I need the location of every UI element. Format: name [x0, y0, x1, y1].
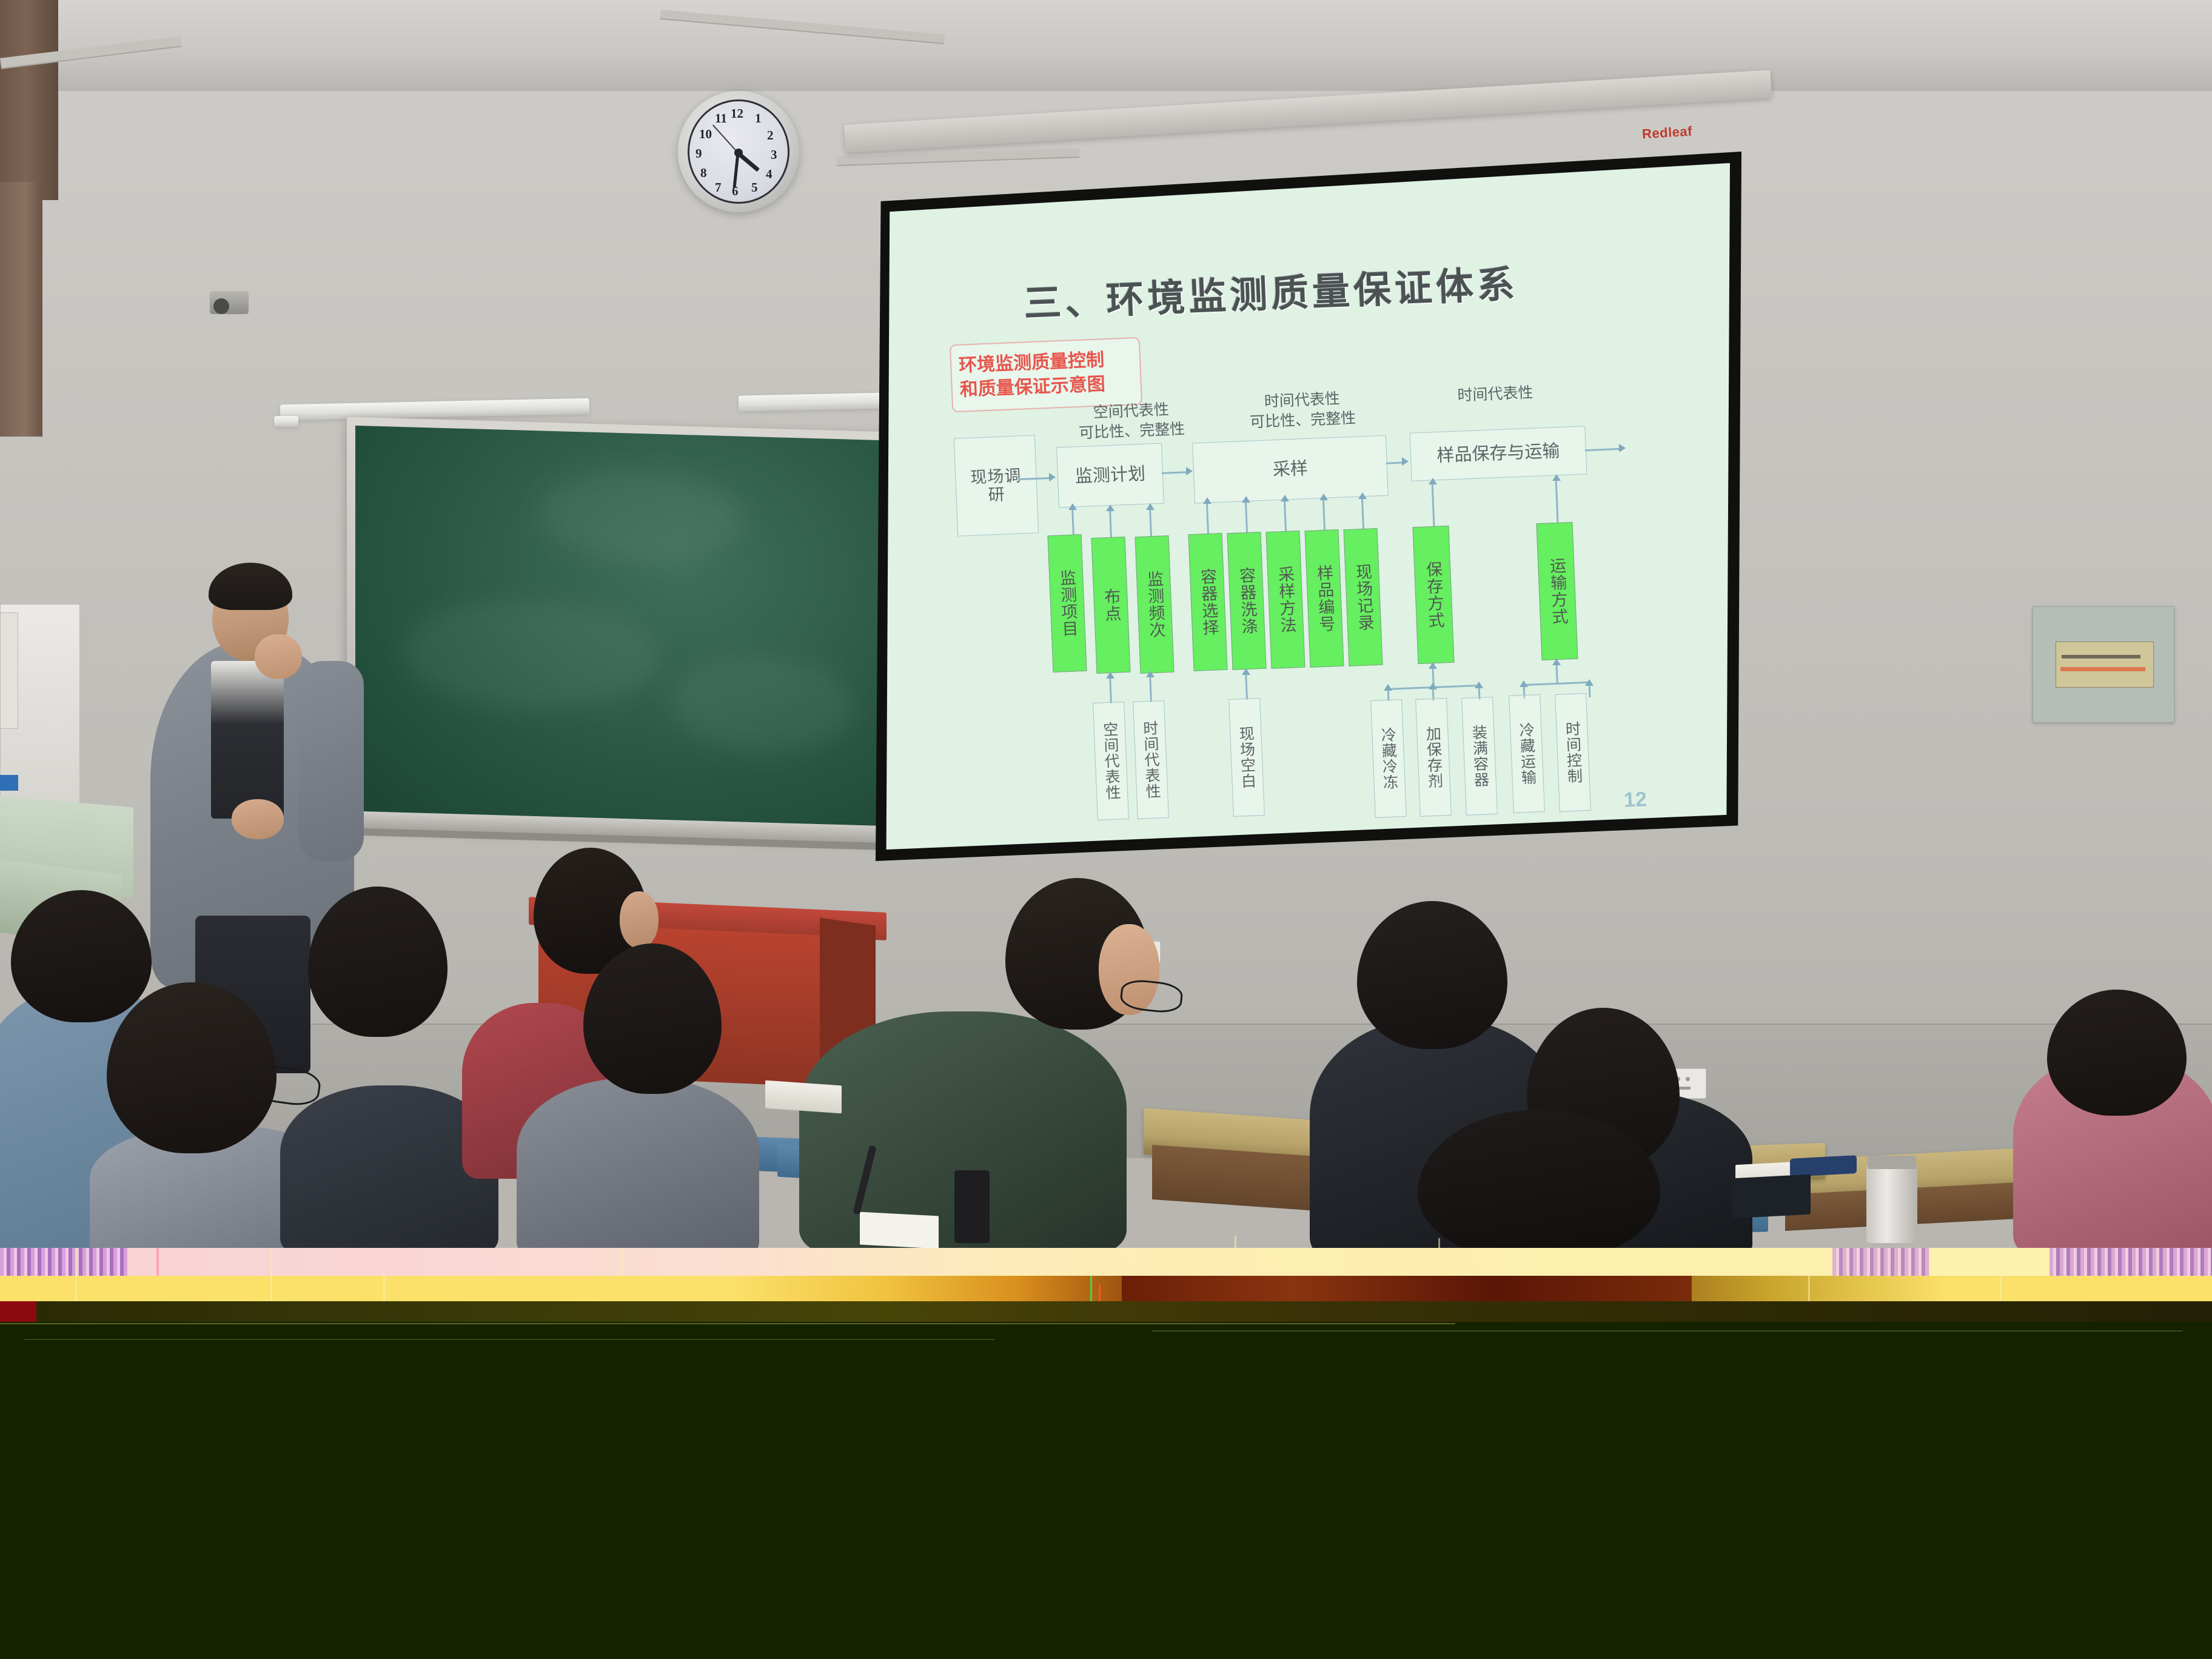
glitch-band-yellow [0, 1276, 2212, 1301]
thermos-flask[interactable] [1866, 1164, 1917, 1243]
riser-7 [1322, 496, 1326, 534]
clock-numeral: 3 [771, 147, 777, 163]
glitch-tick [905, 1248, 907, 1276]
detail-box-spatial-representativeness: 空间代表性 [1093, 702, 1129, 820]
clock-numeral: 5 [751, 180, 758, 195]
glitch-tick [1099, 1284, 1101, 1301]
glitch-tick [2000, 1248, 2002, 1301]
stage-box-storage-transport: 样品保存与运输 [1410, 426, 1587, 481]
sensor-artifact [1235, 1236, 1236, 1248]
wall-plaque-accent-line [2060, 667, 2145, 671]
corrupted-image-region [0, 1248, 2212, 1659]
glitch-dark-red-run [1122, 1276, 1692, 1301]
arrow-plan-to-sampling [1186, 467, 1193, 475]
arrow-riser-7 [1319, 494, 1328, 500]
window-curtain-lower [0, 182, 42, 437]
chalk-smudge [404, 597, 659, 713]
clock-numeral: 8 [700, 166, 707, 181]
stage-box-monitoring-plan: 监测计划 [1056, 443, 1164, 508]
clock-numeral: 4 [766, 167, 773, 182]
glitch-band-olive [0, 1301, 2212, 1322]
riser-1 [1071, 506, 1074, 537]
glitch-dark-red-run-2 [0, 1301, 36, 1322]
lower-riser-1 [1109, 674, 1112, 703]
detail-box-refrigerate-freeze: 冷藏冷冻 [1370, 699, 1407, 818]
clock-numeral: 10 [699, 127, 712, 142]
clock-numeral: 12 [731, 106, 743, 121]
detail-box-field-blank: 现场空白 [1228, 698, 1265, 817]
ceiling-camera-lens [213, 298, 229, 314]
riser-6 [1284, 497, 1287, 535]
glitch-scanline [24, 1339, 994, 1340]
arrow-lower-riser-2 [1146, 671, 1155, 677]
lecturer-hand-raised [255, 634, 302, 679]
detail-box-add-preservative: 加保存剂 [1415, 698, 1452, 817]
connector-storage-out [1585, 448, 1621, 451]
detail-box-temporal-representativeness: 时间代表性 [1133, 700, 1169, 819]
riser-10 [1555, 477, 1558, 524]
glitch-tick [1443, 1248, 1445, 1276]
presentation-slide: 三、环境监测质量保证体系 环境监测质量控制 和质量保证示意图 空间代表性 可比性… [883, 159, 1734, 854]
glitch-tick [75, 1248, 77, 1301]
lecturer-right-arm [298, 661, 364, 861]
clock-numeral: 9 [695, 146, 702, 161]
arrow-riser-2 [1106, 504, 1114, 511]
arrow-storage-out [1619, 444, 1626, 452]
riser-4 [1206, 500, 1209, 537]
clock-face: 12 1 2 3 4 5 6 7 8 9 10 11 [688, 99, 789, 204]
arrow-survey-to-plan [1049, 473, 1056, 481]
sensor-artifact [1438, 1238, 1440, 1248]
student-body [517, 1078, 759, 1248]
arrow-riser-3 [1146, 503, 1155, 510]
arrow-riser-6 [1281, 495, 1289, 501]
ceiling [0, 0, 2212, 91]
student-face [620, 891, 659, 948]
arrow-riser-1 [1068, 503, 1077, 510]
arrow-riser-5 [1242, 496, 1250, 503]
green-box-field-record: 现场记录 [1343, 528, 1382, 666]
green-box-preservation-method: 保存方式 [1412, 526, 1454, 664]
connector-plan-to-sampling [1162, 471, 1187, 474]
arrow-riser-9 [1429, 478, 1437, 484]
textbook-open[interactable] [765, 1081, 842, 1114]
green-box-site-layout: 布点 [1091, 537, 1131, 674]
fluorescent-lamp-right [739, 392, 890, 411]
arrow-fanout-right-2 [1585, 679, 1594, 686]
detail-box-fill-container: 装满容器 [1461, 697, 1498, 816]
glitch-band-magenta [1832, 1248, 1929, 1276]
green-box-container-washing: 容器洗涤 [1227, 532, 1266, 670]
lecturer-shirt [211, 661, 284, 819]
slide-callout: 环境监测质量控制 和质量保证示意图 [950, 337, 1142, 413]
cabinet-label-sticker [0, 775, 18, 791]
wall-plaque-text-line [2062, 655, 2140, 659]
arrow-fanout-left-1 [1384, 684, 1392, 691]
green-box-transport-method: 运输方式 [1536, 522, 1578, 660]
riser-9 [1431, 480, 1435, 528]
arrow-riser-4 [1203, 497, 1212, 504]
arrow-sampling-to-storage [1402, 457, 1409, 466]
tablet-device[interactable] [1732, 1175, 1811, 1219]
glitch-fill-dark [0, 1322, 2212, 1659]
caption-line-1: 时间代表性 [1428, 382, 1562, 407]
riser-3 [1149, 506, 1152, 538]
riser-5 [1245, 498, 1248, 536]
glitch-scanline [1152, 1330, 2183, 1332]
thermos-cap [1868, 1156, 1916, 1169]
glitch-tick [1808, 1276, 1810, 1301]
arrow-lower-riser-3 [1242, 668, 1250, 675]
clock-numeral: 11 [715, 111, 727, 126]
screen-brand-label: Redleaf [1641, 124, 1692, 142]
glitch-tick [1090, 1276, 1092, 1301]
equipment-cabinet-door[interactable] [0, 612, 18, 729]
clock-numeral: 7 [715, 180, 722, 195]
arrow-lower-riser-1 [1106, 672, 1114, 679]
screenshot-root: 12 1 2 3 4 5 6 7 8 9 10 11 [0, 0, 2212, 1659]
wall-clock: 12 1 2 3 4 5 6 7 8 9 10 11 [678, 91, 799, 212]
green-box-monitoring-items: 监测项目 [1047, 534, 1087, 672]
clock-minute-hand [732, 153, 739, 188]
flow-caption-2: 时间代表性 可比性、完整性 [1235, 388, 1370, 433]
green-box-monitoring-frequency: 监测频次 [1134, 535, 1174, 674]
arrow-fanout-left-3 [1475, 682, 1483, 688]
clock-center-hub [734, 149, 743, 157]
chalk-smudge [537, 467, 743, 563]
classroom-photo: 12 1 2 3 4 5 6 7 8 9 10 11 [0, 0, 2212, 1248]
arrow-fanout-left-2 [1429, 683, 1437, 689]
glitch-scanline [0, 1323, 1455, 1324]
arrow-fanout-left [1429, 662, 1437, 669]
lower-riser-3 [1245, 671, 1248, 700]
lamp-bracket-left [274, 416, 298, 427]
riser-2 [1109, 507, 1112, 538]
pencil-case[interactable] [1790, 1155, 1857, 1177]
arrow-fanout-right-1 [1520, 680, 1528, 687]
arrow-fanout-right [1552, 659, 1561, 665]
wall-plaque-inner [2056, 642, 2154, 688]
arrow-riser-10 [1552, 474, 1561, 481]
slide-title: 三、环境监测质量保证体系 [1023, 253, 1520, 328]
detail-box-refrigerated-transport: 冷藏运输 [1509, 694, 1545, 813]
mobile-phone[interactable] [954, 1170, 990, 1243]
clock-numeral: 2 [767, 128, 774, 143]
green-box-container-selection: 容器选择 [1188, 533, 1227, 671]
callout-line-2: 和质量保证示意图 [959, 372, 1105, 403]
clock-numeral: 1 [755, 111, 762, 126]
glitch-tick [621, 1248, 623, 1276]
glitch-tick [156, 1248, 159, 1276]
flow-caption-1: 空间代表性 可比性、完整性 [1064, 399, 1199, 444]
green-box-sampling-method: 采样方法 [1265, 531, 1305, 669]
slide-page-number: 12 [1623, 788, 1647, 812]
glitch-band-magenta [2049, 1248, 2212, 1276]
flow-caption-3: 时间代表性 [1428, 382, 1562, 407]
arrow-riser-8 [1358, 492, 1367, 499]
glitch-band-magenta [0, 1248, 127, 1276]
glitch-tick [270, 1248, 272, 1301]
window-curtain [0, 0, 58, 200]
lower-riser-2 [1149, 673, 1152, 702]
student-desk-mid-front [1152, 1145, 1326, 1212]
stage-box-site-survey: 现场调研 [954, 435, 1039, 536]
blackboard-surface [355, 426, 882, 826]
riser-8 [1361, 495, 1364, 532]
glitch-tick [383, 1276, 385, 1301]
outlet-socket-hole [1686, 1077, 1690, 1081]
detail-box-time-control: 时间控制 [1555, 693, 1591, 812]
lecturer-hand-lower [232, 799, 284, 839]
clock-second-hand [712, 124, 739, 153]
chalk-smudge [671, 652, 853, 754]
paper-sheet[interactable] [860, 1212, 939, 1248]
green-box-sample-numbering: 样品编号 [1304, 529, 1344, 668]
